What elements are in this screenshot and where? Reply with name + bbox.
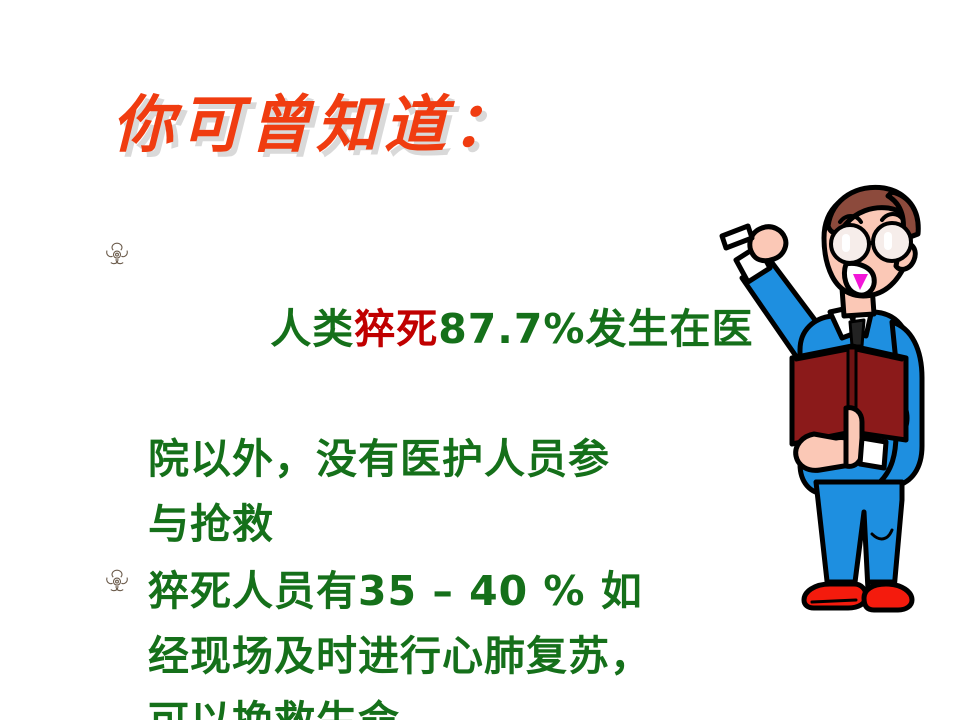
slide-canvas: 你可曾知道： 人类: [0, 0, 960, 720]
list-item-line: 院以外，没有医护人员参: [148, 427, 720, 492]
list-item-line: 可以挽救生命: [148, 689, 720, 720]
list-item-line: 与抢救: [148, 492, 720, 557]
list-item: 人类猝死87.7%发生在医 院以外，没有医护人员参 与抢救: [100, 232, 720, 557]
page-title: 你可曾知道：: [112, 92, 812, 157]
cartoon-professor-illustration: [696, 182, 960, 614]
list-item-line: 猝死人员有35 – 40 % 如: [148, 559, 720, 624]
list-item: 猝死人员有35 – 40 % 如 经现场及时进行心肺复苏， 可以挽救生命: [100, 559, 720, 720]
flower-bullet-icon: [100, 565, 134, 599]
line-segment-highlight: 猝死: [354, 305, 438, 353]
bullet-list: 人类猝死87.7%发生在医 院以外，没有医护人员参 与抢救: [100, 232, 720, 720]
list-item-line: 经现场及时进行心肺复苏，: [148, 624, 720, 689]
line-segment: 人类: [270, 305, 354, 353]
list-item-line: 人类猝死87.7%发生在医: [148, 232, 720, 427]
flower-bullet-icon: [100, 238, 134, 272]
